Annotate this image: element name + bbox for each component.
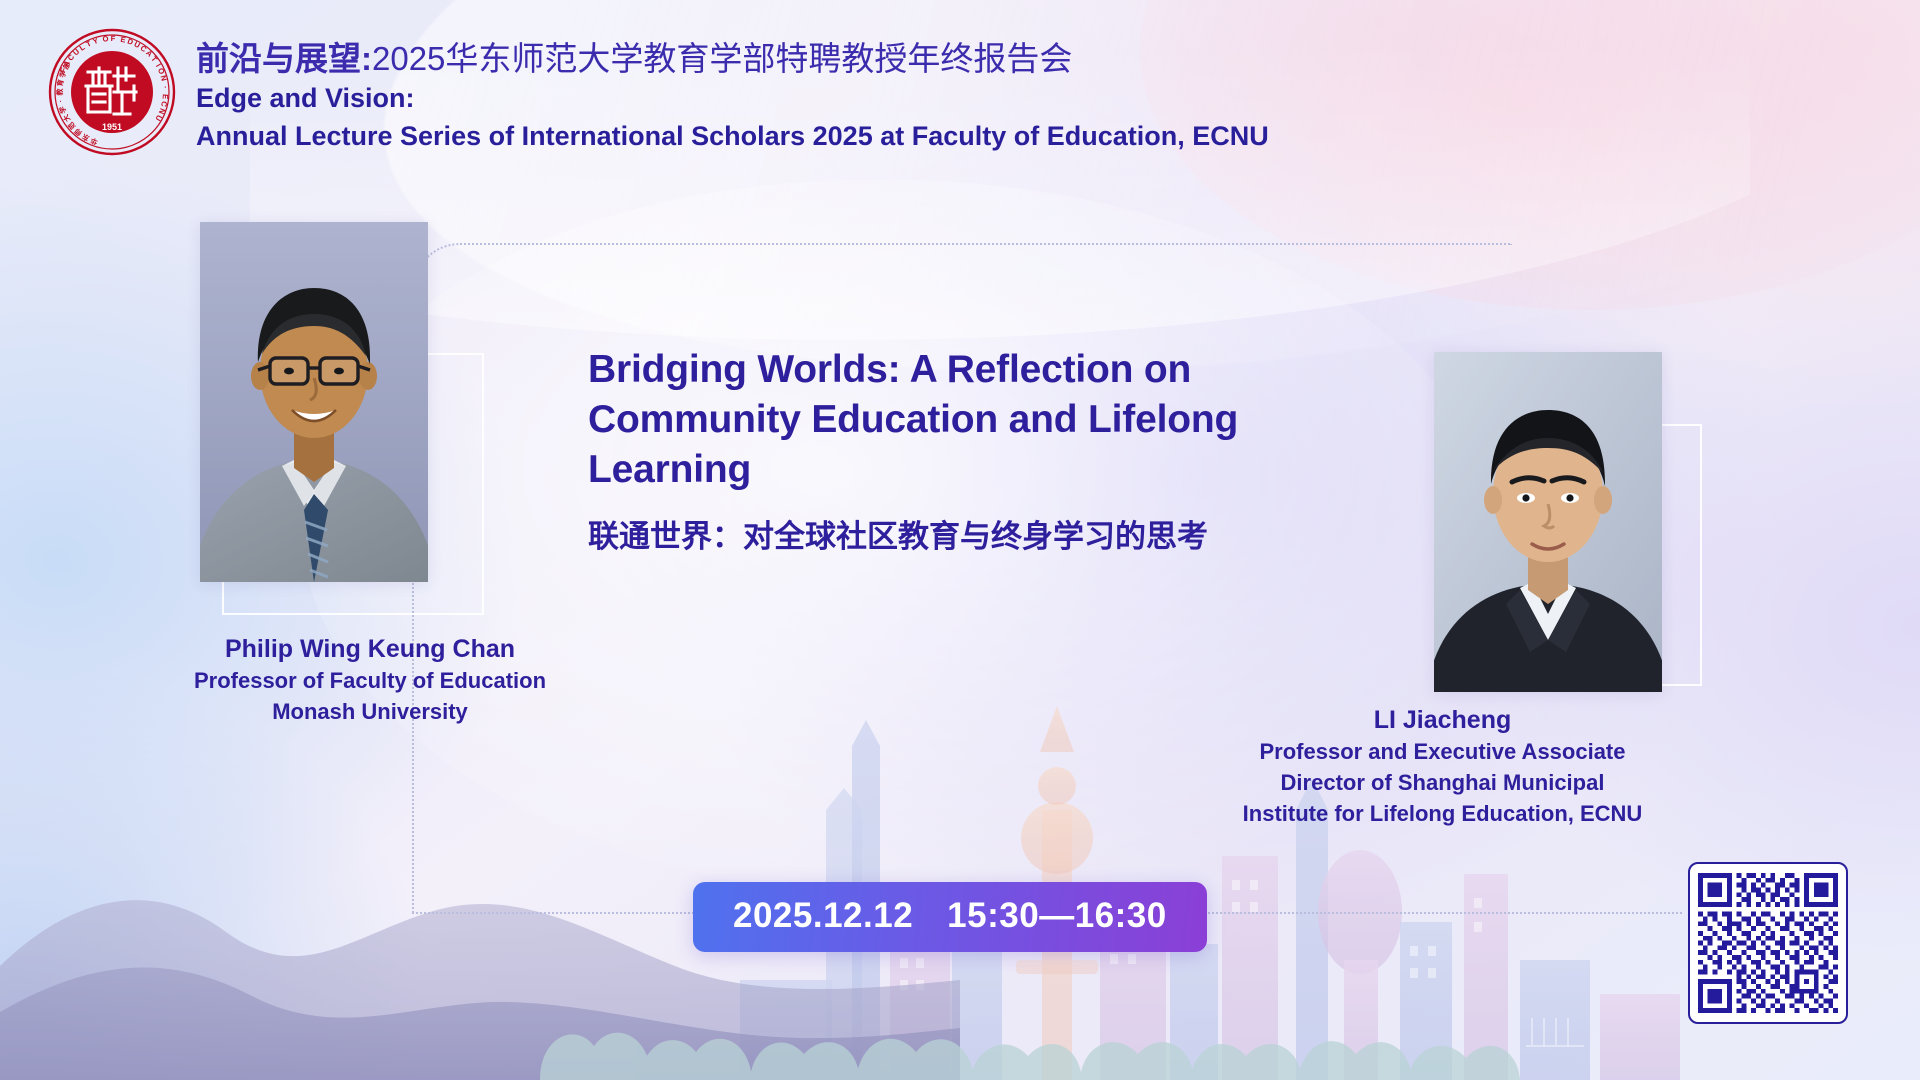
schedule-time: 15:30—16:30 — [947, 896, 1167, 936]
header-title-cn: 前沿与展望:2025华东师范大学教育学部特聘教授年终报告会 — [196, 40, 1269, 79]
header-title-en-line1: Edge and Vision: — [196, 79, 1269, 118]
svg-text:T: T — [149, 54, 159, 63]
speaker-left-name: Philip Wing Keung Chan — [60, 632, 680, 666]
header-title-en-line2: Annual Lecture Series of International S… — [196, 118, 1269, 156]
lecture-title-en: Bridging Worlds: A Reflection on Communi… — [588, 345, 1378, 495]
lecture-poster: F A C U L T Y O F E D U C A T I O N · E — [0, 0, 1920, 1080]
svg-text:·: · — [58, 99, 65, 103]
ecnu-seal-logo-icon: F A C U L T Y O F E D U C A T I O N · E — [48, 28, 176, 156]
svg-text:E: E — [120, 35, 127, 45]
speaker-portrait-photo-left-icon — [200, 222, 428, 582]
trees-illustration — [520, 960, 1520, 1080]
speaker-left-role-line-1: Professor of Faculty of Education — [60, 666, 680, 697]
header-title-block: 前沿与展望:2025华东师范大学教育学部特聘教授年终报告会 Edge and V… — [196, 28, 1269, 156]
header-title-cn-bold: 前沿与展望: — [196, 40, 372, 77]
svg-text:U: U — [153, 113, 164, 123]
schedule-badge: 2025.12.12 15:30—16:30 — [693, 882, 1207, 952]
speaker-right-role-line-1: Professor and Executive Associate — [1170, 737, 1715, 768]
svg-text:E: E — [161, 94, 170, 100]
qr-code-container[interactable] — [1688, 862, 1848, 1024]
poster-header: F A C U L T Y O F E D U C A T I O N · E — [48, 28, 1269, 156]
svg-text:O: O — [102, 34, 109, 44]
speaker-portrait-photo-right-icon — [1434, 352, 1662, 692]
schedule-date: 2025.12.12 — [733, 896, 913, 936]
speaker-left-role-line-2: Monash University — [60, 697, 680, 728]
speaker-right-role-line-2: Director of Shanghai Municipal — [1170, 768, 1715, 799]
svg-text:F: F — [111, 34, 116, 43]
speaker-left-info: Philip Wing Keung Chan Professor of Facu… — [60, 632, 680, 728]
header-title-cn-rest: 2025华东师范大学教育学部特聘教授年终报告会 — [372, 40, 1072, 77]
svg-text:N: N — [159, 74, 169, 82]
lecture-title-cn: 联通世界：对全球社区教育与终身学习的思考 — [588, 517, 1378, 557]
speaker-right-role-line-3: Institute for Lifelong Education, ECNU — [1170, 799, 1715, 830]
logo-year: 1951 — [102, 122, 122, 132]
speaker-photo-right — [1434, 352, 1662, 692]
svg-text:教: 教 — [55, 88, 64, 97]
speaker-right-info: LI Jiacheng Professor and Executive Asso… — [1170, 703, 1715, 829]
svg-text:Y: Y — [92, 36, 100, 46]
speaker-photo-left — [200, 222, 428, 582]
speaker-right-name: LI Jiacheng — [1170, 703, 1715, 737]
qr-code-icon[interactable] — [1698, 872, 1838, 1014]
lecture-title-block: Bridging Worlds: A Reflection on Communi… — [588, 345, 1378, 557]
